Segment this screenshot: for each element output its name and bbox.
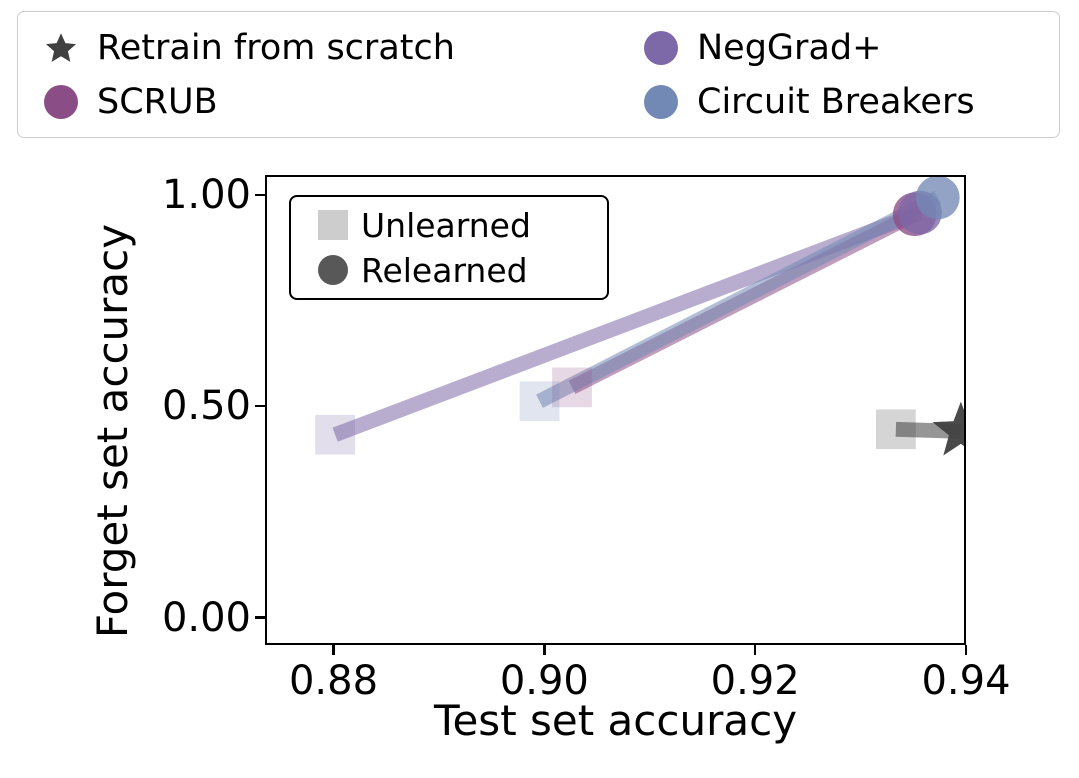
legend-entry-neggrad-plus: NegGrad+: [634, 20, 881, 76]
unlearned-point-marker: [876, 409, 916, 449]
y-tick-mark: [255, 194, 265, 196]
legend-entry-retrain-from-scratch: Retrain from scratch: [34, 20, 455, 76]
x-tick-mark: [543, 645, 545, 655]
legend-entry-circuit-breakers: Circuit Breakers: [634, 74, 975, 130]
stage-legend: Unlearned Relearned: [289, 195, 609, 300]
unlearned-point-marker: [520, 381, 560, 421]
method-legend: Retrain from scratch SCRUB NegGrad+ Circ…: [17, 11, 1060, 138]
legend-entry-relearned: Relearned: [305, 248, 528, 292]
scatter-plot-area: Unlearned Relearned: [265, 175, 966, 645]
circle-marker-icon: [34, 85, 88, 119]
unlearned-point-marker: [315, 415, 355, 455]
x-tick-label: 0.90: [500, 661, 589, 701]
star-icon: [34, 31, 88, 65]
x-tick-mark: [754, 645, 756, 655]
legend-entry-scrub: SCRUB: [34, 74, 218, 130]
x-tick-label: 0.94: [921, 661, 1010, 701]
x-axis-label: Test set accuracy: [265, 700, 966, 742]
legend-label: SCRUB: [88, 85, 218, 120]
y-axis-label: Forget set accuracy: [92, 196, 134, 666]
y-tick-mark: [255, 405, 265, 407]
x-tick-mark: [332, 645, 334, 655]
legend-label: Relearned: [361, 254, 528, 287]
legend-label: Circuit Breakers: [688, 85, 975, 120]
circle-marker-icon: [305, 255, 361, 285]
y-tick-label: 0.50: [131, 386, 251, 426]
legend-label: Retrain from scratch: [88, 31, 455, 66]
x-tick-mark: [965, 645, 967, 655]
legend-entry-unlearned: Unlearned: [305, 203, 531, 247]
circle-marker-icon: [634, 31, 688, 65]
y-tick-label: 0.00: [131, 598, 251, 638]
square-marker-icon: [305, 210, 361, 240]
legend-label: Unlearned: [361, 209, 531, 242]
x-tick-label: 0.92: [711, 661, 800, 701]
y-tick-label: 1.00: [131, 175, 251, 215]
x-tick-label: 0.88: [289, 661, 378, 701]
y-tick-mark: [255, 616, 265, 618]
circle-marker-icon: [634, 85, 688, 119]
relearned-point-marker: [916, 177, 960, 219]
legend-label: NegGrad+: [688, 31, 881, 66]
